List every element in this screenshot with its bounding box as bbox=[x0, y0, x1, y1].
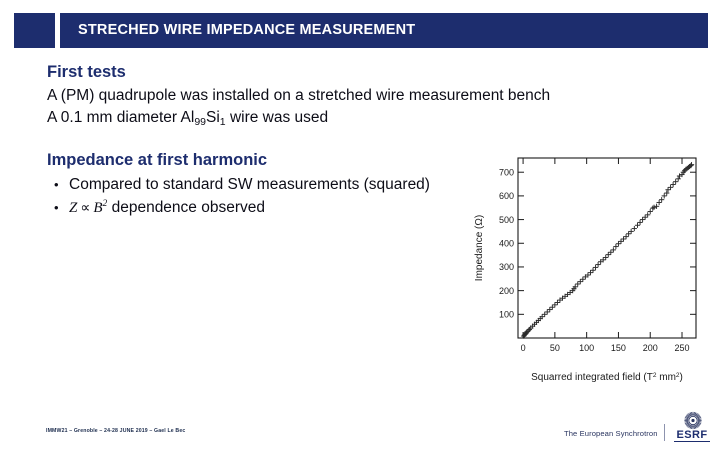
section-one-line-2: A 0.1 mm diameter Al99Si1 wire was used bbox=[47, 107, 687, 129]
x-tick-50: 50 bbox=[550, 343, 560, 353]
x-tick-200: 200 bbox=[643, 343, 658, 353]
y-axis-tick-labels: 100200300400500600700 bbox=[499, 167, 514, 319]
footer-divider bbox=[664, 424, 665, 441]
header-accent-square bbox=[14, 13, 55, 48]
formula-proportional-icon: ∝ bbox=[77, 201, 93, 216]
y-tick-300: 300 bbox=[499, 262, 514, 272]
header-title-bar: STRECHED WIRE IMPEDANCE MEASUREMENT bbox=[60, 13, 708, 48]
slide-header: STRECHED WIRE IMPEDANCE MEASUREMENT bbox=[14, 13, 708, 48]
y-tick-600: 600 bbox=[499, 191, 514, 201]
impedance-vs-field-chart: 100200300400500600700 050100150200250 Im… bbox=[466, 152, 716, 392]
y-tick-700: 700 bbox=[499, 167, 514, 177]
wire-sub-99: 99 bbox=[194, 116, 206, 128]
x-tick-250: 250 bbox=[674, 343, 689, 353]
wire-sub-1: 1 bbox=[220, 116, 226, 128]
wire-spec-tail: wire was used bbox=[226, 109, 329, 126]
wire-si: Si bbox=[206, 109, 220, 126]
bullet-2-label: Z∝B2 dependence observed bbox=[69, 197, 265, 219]
y-tick-100: 100 bbox=[499, 310, 514, 320]
esrf-logo-block: The European Synchrotron ESRF bbox=[564, 411, 712, 447]
bullet-1-label: Compared to standard SW measurements (sq… bbox=[69, 174, 430, 196]
section-one-line-1: A (PM) quadrupole was installed on a str… bbox=[47, 85, 687, 107]
footer-tagline: The European Synchrotron bbox=[564, 429, 658, 438]
section-one-heading: First tests bbox=[47, 62, 687, 83]
chart-svg: 100200300400500600700 050100150200250 Im… bbox=[466, 152, 716, 392]
bullet-marker-icon: • bbox=[47, 199, 69, 217]
y-tick-400: 400 bbox=[499, 238, 514, 248]
bullet-2-tail: dependence observed bbox=[107, 199, 265, 216]
x-tick-100: 100 bbox=[579, 343, 594, 353]
bullet-marker-icon: • bbox=[47, 176, 69, 194]
x-tick-150: 150 bbox=[611, 343, 626, 353]
x-axis-tick-labels: 050100150200250 bbox=[521, 343, 690, 353]
x-axis-label: Squarred integrated field (T2 mm2) bbox=[531, 372, 683, 384]
section-first-tests: First tests A (PM) quadrupole was instal… bbox=[47, 62, 687, 129]
esrf-wordmark: ESRF bbox=[674, 430, 710, 442]
formula-var-b: B bbox=[93, 200, 102, 216]
footer-credit: IMMW21 – Grenoble – 24-28 JUNE 2019 – Ga… bbox=[46, 428, 185, 434]
plot-frame bbox=[518, 158, 696, 338]
y-tick-500: 500 bbox=[499, 215, 514, 225]
y-axis-label: Impedance (Ω) bbox=[474, 215, 485, 281]
y-tick-200: 200 bbox=[499, 286, 514, 296]
wire-spec-prefix: A 0.1 mm diameter Al bbox=[47, 109, 194, 126]
page-title: STRECHED WIRE IMPEDANCE MEASUREMENT bbox=[78, 13, 415, 48]
x-tick-0: 0 bbox=[521, 343, 526, 353]
